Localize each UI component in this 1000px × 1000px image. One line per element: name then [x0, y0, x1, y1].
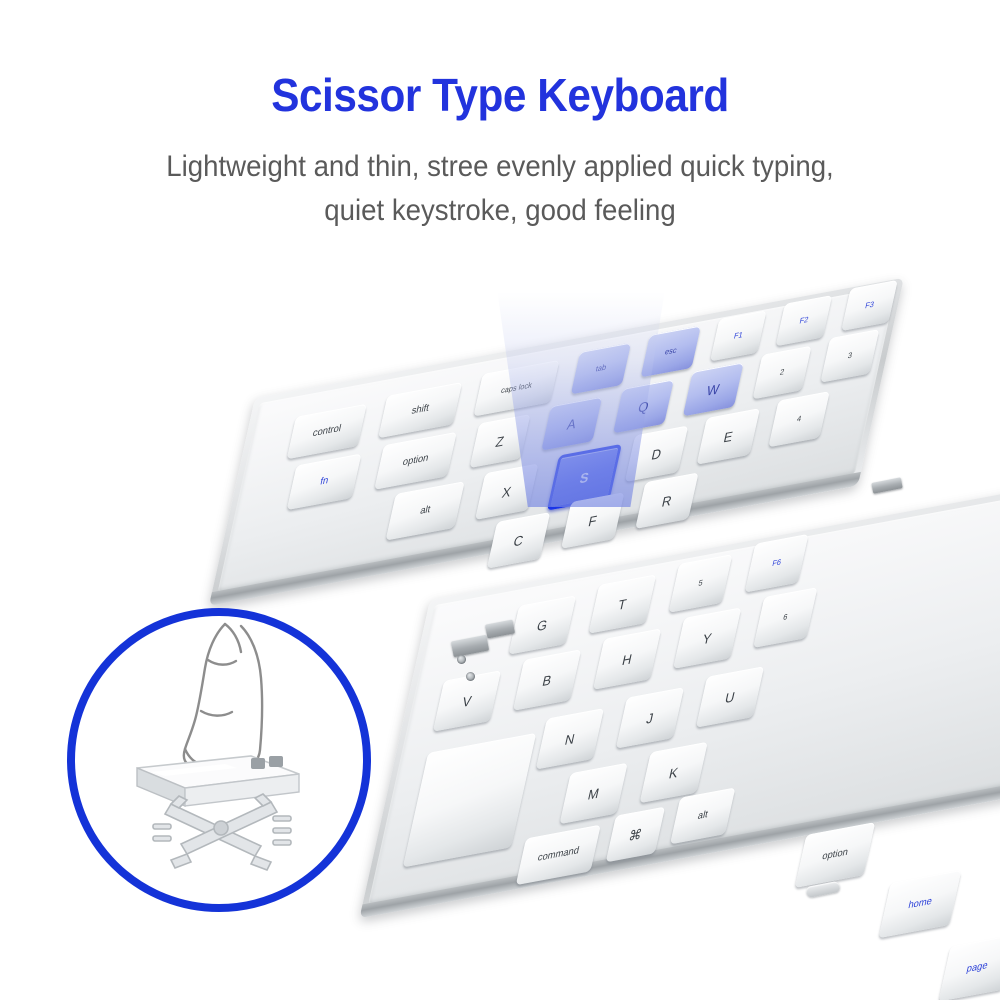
scissor-switch-illustration: [75, 616, 363, 904]
key-home[interactable]: home: [878, 870, 961, 938]
key-page[interactable]: page: [938, 934, 1000, 1000]
finger-icon: [184, 624, 262, 766]
hinge-screw-upper: [457, 655, 466, 664]
scissor-mechanism-icon: [153, 794, 291, 870]
hinge-far-right: [871, 477, 903, 494]
hinge-screw-lower: [466, 672, 475, 681]
product-feature-banner: Scissor Type Keyboard Lightweight and th…: [0, 0, 1000, 1000]
scissor-switch-inset: [67, 608, 371, 912]
key-f3[interactable]: F3: [841, 280, 898, 331]
keycap-icon: [137, 756, 299, 806]
